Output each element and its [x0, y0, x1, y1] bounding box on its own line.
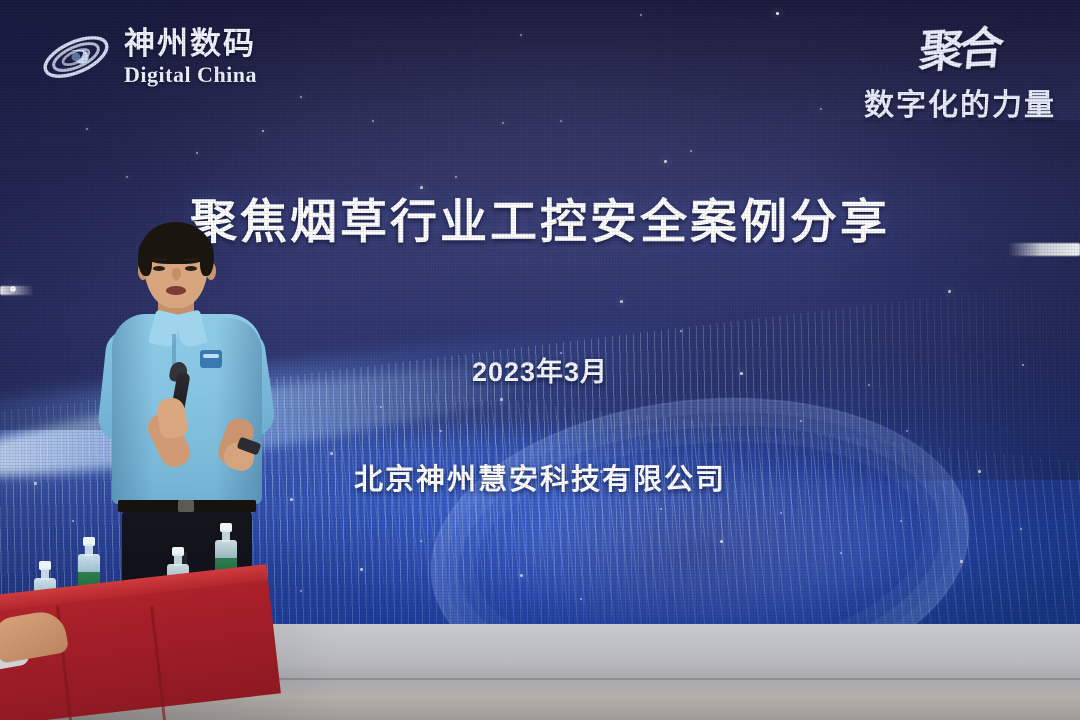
star-particle — [900, 520, 902, 522]
star-particle — [960, 560, 963, 563]
speaker-brow-right — [184, 258, 199, 261]
event-logo: 聚合 数字化的力量 — [794, 14, 1056, 118]
speaker-eye-left — [153, 266, 165, 271]
star-particle — [948, 290, 951, 293]
star-particle — [502, 122, 504, 124]
star-particle — [86, 128, 88, 130]
star-particle — [500, 398, 503, 401]
star-particle — [664, 160, 667, 163]
speaker-shirt-shade-left — [112, 314, 154, 504]
speaker-hair-side-right — [200, 240, 214, 276]
screen-right-vignette — [780, 120, 1080, 480]
star-particle — [520, 34, 522, 36]
speaker-person — [96, 222, 286, 620]
conference-stage-photo: 神州数码 Digital China 聚合 数字化的力量 聚焦烟草行业工控安全案… — [0, 0, 1080, 720]
event-calligraphy: 聚合 — [917, 12, 1003, 80]
speaker-shirt-shade-right — [216, 318, 262, 504]
speaker-eye-right — [185, 266, 197, 271]
brand-name-en: Digital China — [124, 64, 257, 86]
event-tagline: 数字化的力量 — [794, 80, 1056, 124]
speaker-hair-side-left — [138, 240, 152, 276]
star-particle — [906, 430, 908, 432]
speaker-chest-logo — [200, 350, 222, 368]
star-particle — [360, 568, 363, 571]
brand-name-cn: 神州数码 — [124, 28, 257, 59]
speaker-nose — [172, 268, 181, 280]
star-particle — [330, 452, 333, 455]
star-particle — [290, 498, 293, 501]
star-particle — [126, 176, 128, 178]
speaker-belt-buckle — [178, 500, 194, 512]
star-particle — [520, 574, 523, 577]
star-particle — [620, 300, 623, 303]
star-particle — [776, 12, 779, 15]
speaker-mouth — [166, 286, 186, 295]
left-edge-light-streak — [0, 286, 34, 295]
galaxy-swirl-icon — [40, 26, 112, 88]
digital-china-logo: 神州数码 Digital China — [40, 16, 310, 98]
star-particle — [720, 540, 723, 543]
speaker-brow-left — [152, 258, 167, 261]
star-particle — [690, 150, 692, 152]
